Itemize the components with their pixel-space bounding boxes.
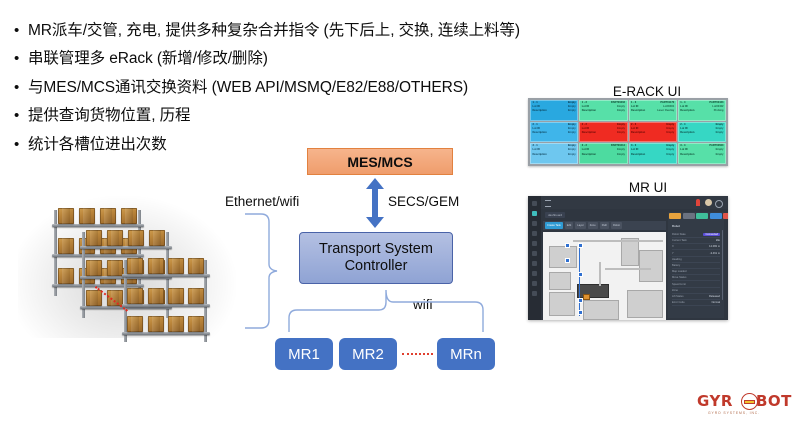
detail-key: Speed Limit <box>672 283 686 286</box>
bullet-dot-icon: • <box>14 50 28 68</box>
list-item: • 串联管理多 eRack (新增/修改/删除) <box>14 50 554 69</box>
slot-desc-value: Empty <box>617 110 625 113</box>
nav-dot-icon[interactable] <box>532 251 537 256</box>
bullet-text: 串联管理多 eRack (新增/修改/删除) <box>28 50 268 69</box>
erack-slot-cell[interactable]: 3 - 4PART00600Lot IDEmptyDescriptionEmpt… <box>678 143 726 164</box>
slot-desc-key: Description <box>631 132 645 135</box>
bullet-text: MR派车/交管, 充电, 提供多种复杂合并指令 (先下后上, 交换, 连续上料等… <box>28 22 520 41</box>
list-item: • 提供查询货物位置, 历程 <box>14 107 554 126</box>
erack-slot-cell[interactable]: 2 - 1EmptyLot IDEmptyDescriptionEmpty <box>530 122 578 143</box>
robot-node-mr2[interactable]: MR2 <box>339 338 397 370</box>
robot-label: MRn <box>450 346 482 363</box>
nav-dot-icon-active[interactable] <box>532 211 537 216</box>
list-item: • MR派车/交管, 充电, 提供多种复杂合并指令 (先下后上, 交换, 连续上… <box>14 22 554 41</box>
slot-status: Empty <box>568 124 576 127</box>
slot-desc-key: Description <box>680 154 694 157</box>
slot-lot-key: Lot ID <box>631 149 638 152</box>
detail-row: Lift StatusReleased <box>672 294 720 300</box>
detail-value: 12.082 m <box>709 245 720 248</box>
gyrobot-logo: GYR BOT GYRO SYSTEMS, INC. <box>697 392 793 422</box>
detail-row: Heading <box>672 257 720 263</box>
nav-dot-icon[interactable] <box>532 201 537 206</box>
detail-value: Normal <box>712 301 720 304</box>
slot-lot-key: Lot ID <box>533 149 540 152</box>
detail-key: Heading <box>672 258 682 261</box>
mrui-panel-title: MR UI <box>602 180 694 195</box>
robot-label: MR1 <box>288 346 320 363</box>
robot-ellipsis-dotted-icon <box>402 353 433 355</box>
mes-mcs-node[interactable]: MES/MCS <box>307 148 453 175</box>
controller-label-line1: Transport System <box>319 241 433 258</box>
facility-map-canvas[interactable] <box>543 232 666 320</box>
nav-dot-icon[interactable] <box>532 291 537 296</box>
list-item: • 统计各槽位进出次数 <box>14 136 554 155</box>
slot-desc-key: Description <box>680 132 694 135</box>
detail-key: Current Task <box>672 239 687 242</box>
mrui-status-chip[interactable] <box>669 213 681 219</box>
logo-wordmark-right: BOT <box>756 392 792 410</box>
mrui-left-nav-rail[interactable] <box>528 196 541 320</box>
mrui-toolbar-button[interactable]: Robot <box>611 222 622 229</box>
detail-row: Current TaskIdle <box>672 238 720 244</box>
detail-row: Map Loaded <box>672 269 720 275</box>
slide-canvas: • MR派车/交管, 充电, 提供多种复杂合并指令 (先下后上, 交换, 连续上… <box>0 0 800 426</box>
detail-row: Battery <box>672 263 720 269</box>
slot-desc-value: Probing <box>714 110 724 113</box>
slot-lot-value: Empty <box>617 149 625 152</box>
mrui-toolbar-button[interactable]: Zone <box>588 222 598 229</box>
secs-gem-label: SECS/GEM <box>388 194 459 209</box>
robot-marker-icon[interactable] <box>583 294 590 300</box>
detail-key: Y <box>672 252 674 255</box>
transport-system-controller-node[interactable]: Transport System Controller <box>299 232 453 284</box>
mrui-toolbar: Create TaskEditLayerZonePathRobot <box>543 221 666 230</box>
erack-slot-cell[interactable]: 1 - 1EmptyLot IDEmptyDescriptionEmpty <box>530 100 578 121</box>
wifi-brace-icon <box>287 288 487 334</box>
erack-slot-cell[interactable]: 1 - 2PART00303Lot IDEmptyDescriptionEmpt… <box>579 100 627 121</box>
slot-status: Empty <box>666 124 674 127</box>
nav-dot-icon[interactable] <box>532 231 537 236</box>
bullet-dot-icon: • <box>14 136 28 154</box>
mr-ui-screenshot[interactable]: dashboard Create TaskEditLayerZonePathRo… <box>528 196 728 320</box>
erack-slot-cell[interactable]: 2 - 3EmptyLot IDEmptyDescriptionEmpty <box>629 122 677 143</box>
slot-status: Empty <box>716 124 724 127</box>
erack-ui-screenshot[interactable]: 1 - 1EmptyLot IDEmptyDescriptionEmpty1 -… <box>528 98 728 166</box>
slot-status: Empty <box>617 124 625 127</box>
bullet-list: • MR派车/交管, 充电, 提供多种复杂合并指令 (先下后上, 交换, 连续上… <box>14 22 554 164</box>
detail-key: Error Code <box>672 301 685 304</box>
detail-value: Released <box>709 295 720 298</box>
detail-key: Battery <box>672 264 680 267</box>
mrui-status-chip[interactable] <box>710 213 722 219</box>
mrui-detail-panel: Robot Robot StateConnectedCurrent TaskId… <box>668 212 724 318</box>
mrui-status-chip[interactable] <box>696 213 708 219</box>
detail-value: -3.461 m <box>710 252 720 255</box>
robot-label: MR2 <box>352 346 384 363</box>
logo-tagline: GYRO SYSTEMS, INC. <box>708 411 760 415</box>
avatar[interactable] <box>705 199 712 206</box>
detail-panel-title: Robot <box>672 224 680 228</box>
slot-lot-key: Lot ID <box>582 149 589 152</box>
nav-dot-icon[interactable] <box>532 271 537 276</box>
robot-node-mrn[interactable]: MRn <box>437 338 495 370</box>
detail-row: Speed Limit <box>672 282 720 288</box>
erack-slot-cell[interactable]: 3 - 3EmptyLot IDEmptyDescriptionEmpty <box>629 143 677 164</box>
bullet-dot-icon: • <box>14 107 28 125</box>
slot-desc-key: Description <box>533 110 547 113</box>
mrui-toolbar-button[interactable]: Create Task <box>545 222 563 229</box>
slot-desc-value: Laser Overlay <box>657 110 674 113</box>
gear-icon[interactable] <box>715 200 723 208</box>
slot-id: 2 - 1 <box>533 124 538 127</box>
detail-key: Map Loaded <box>672 270 686 273</box>
erack-slot-cell[interactable]: 1 - 4PART00423Lot IDLot00402DescriptionP… <box>678 100 726 121</box>
ethernet-brace-icon <box>243 212 279 330</box>
slot-desc-value: Empty <box>568 110 576 113</box>
detail-row: Zone <box>672 288 720 294</box>
detail-value: Connected <box>703 233 720 236</box>
slot-lot-value: Empty <box>568 149 576 152</box>
slot-desc-key: Description <box>680 110 694 113</box>
detail-key: Lift Status <box>672 295 684 298</box>
nav-dot-icon[interactable] <box>532 261 537 266</box>
detail-key: Move Status <box>672 276 686 279</box>
erack-slot-cell[interactable]: 3 - 1EmptyLot IDEmptyDescriptionEmpty <box>530 143 578 164</box>
erack-slot-grid: 1 - 1EmptyLot IDEmptyDescriptionEmpty1 -… <box>530 100 726 164</box>
slot-id: 2 - 3 <box>631 124 636 127</box>
notification-bell-icon[interactable] <box>696 199 700 206</box>
slot-desc-value: Empty <box>568 154 576 157</box>
nav-dot-icon[interactable] <box>532 221 537 226</box>
slot-desc-key: Description <box>631 110 645 113</box>
slot-desc-value: Empty <box>716 132 724 135</box>
hamburger-icon[interactable] <box>545 200 551 207</box>
bullet-text: 与MES/MCS通讯交换资料 (WEB API/MSMQ/E82/E88/OTH… <box>28 79 468 98</box>
mrui-status-chip[interactable] <box>683 213 695 219</box>
ethernet-wifi-label: Ethernet/wifi <box>225 194 299 209</box>
mrui-status-chip[interactable] <box>723 213 728 219</box>
mrui-toolbar-button[interactable]: Path <box>600 222 609 229</box>
slot-desc-value: Empty <box>666 132 674 135</box>
erack-slot-cell[interactable]: 3 - 2PART00414Lot IDEmptyDescriptionEmpt… <box>579 143 627 164</box>
bullet-dot-icon: • <box>14 79 28 97</box>
bullet-text: 提供查询货物位置, 历程 <box>28 107 190 126</box>
bullet-dot-icon: • <box>14 22 28 40</box>
mrui-toolbar-button[interactable]: Layer <box>575 222 586 229</box>
mrui-top-bar <box>541 196 728 209</box>
breadcrumb: dashboard <box>545 212 565 218</box>
erack-slot-cell[interactable]: 2 - 2EmptyLot IDEmptyDescriptionEmpty <box>579 122 627 143</box>
slot-desc-key: Description <box>533 132 547 135</box>
slot-lot-value: Empty <box>716 149 724 152</box>
controller-label-line2: Controller <box>345 258 408 275</box>
slot-desc-key: Description <box>582 132 596 135</box>
slot-desc-value: Empty <box>716 154 724 157</box>
detail-row: X12.082 m <box>672 244 720 250</box>
slot-desc-key: Description <box>533 154 547 157</box>
slot-desc-value: Empty <box>617 154 625 157</box>
slot-desc-key: Description <box>631 154 645 157</box>
slot-lot-key: Lot ID <box>680 149 687 152</box>
bullet-text: 统计各槽位进出次数 <box>28 136 167 155</box>
secs-gem-double-arrow-icon <box>364 178 386 228</box>
slot-lot-value: Empty <box>666 149 674 152</box>
mrui-toolbar-button[interactable]: Edit <box>565 222 573 229</box>
erack-photo <box>18 196 236 338</box>
robot-node-mr1[interactable]: MR1 <box>275 338 333 370</box>
slot-desc-key: Description <box>582 110 596 113</box>
detail-key: Zone <box>672 289 678 292</box>
mrui-status-chip-row <box>669 213 728 219</box>
detail-row: Move Status <box>672 275 720 281</box>
detail-row: Error CodeNormal <box>672 300 720 306</box>
nav-dot-icon[interactable] <box>532 241 537 246</box>
erack-slot-cell[interactable]: 1 - 3PART01170Lot IDLot00301DescriptionL… <box>629 100 677 121</box>
detail-key: Robot State <box>672 233 686 236</box>
detail-row: Robot StateConnected <box>672 232 720 238</box>
detail-key: X <box>672 245 674 248</box>
slot-desc-key: Description <box>582 154 596 157</box>
scrollbar[interactable] <box>722 230 724 300</box>
slot-desc-value: Empty <box>617 132 625 135</box>
robot-node-row: MR1 MR2 MRn <box>275 338 499 370</box>
erack-panel-title: E-RACK UI <box>592 84 702 99</box>
list-item: • 与MES/MCS通讯交换资料 (WEB API/MSMQ/E82/E88/O… <box>14 79 554 98</box>
slot-id: 2 - 4 <box>680 124 685 127</box>
erack-slot-cell[interactable]: 2 - 4EmptyLot IDEmptyDescriptionEmpty <box>678 122 726 143</box>
detail-value: Idle <box>716 239 720 242</box>
detail-row: Y-3.461 m <box>672 251 720 257</box>
logo-wordmark-left: GYR <box>697 392 733 410</box>
nav-dot-icon[interactable] <box>532 281 537 286</box>
slot-desc-value: Empty <box>568 132 576 135</box>
slot-desc-value: Empty <box>666 154 674 157</box>
mes-mcs-label: MES/MCS <box>347 154 412 170</box>
slot-id: 2 - 2 <box>582 124 587 127</box>
